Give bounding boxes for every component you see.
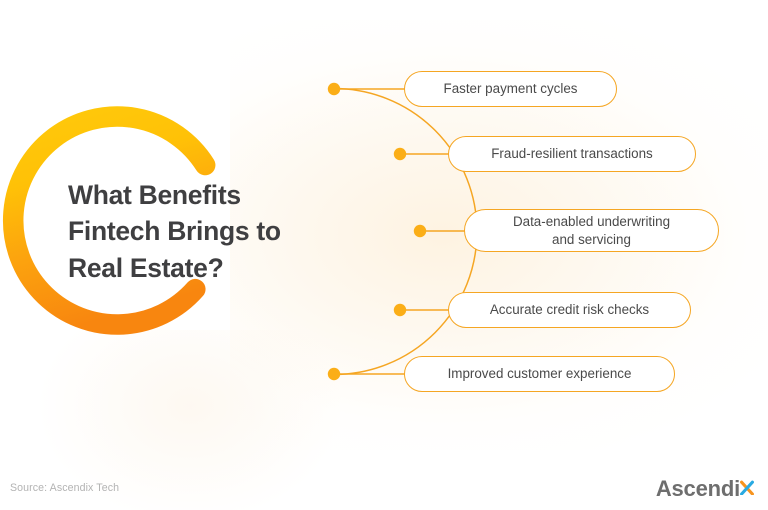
logo-x-icon — [740, 474, 754, 496]
benefit-pill-data-enabled-underwriting[interactable]: Data-enabled underwriting and servicing — [464, 209, 719, 252]
node-dot-3 — [394, 304, 406, 316]
connector-lines — [334, 89, 466, 374]
benefit-pill-faster-payment-cycles[interactable]: Faster payment cycles — [404, 71, 617, 107]
infographic-canvas: What Benefits Fintech Brings to Real Est… — [0, 0, 768, 510]
ascendix-logo: Ascendi — [656, 474, 754, 502]
page-title: What Benefits Fintech Brings to Real Est… — [68, 177, 353, 286]
benefit-pill-fraud-resilient-transactions[interactable]: Fraud-resilient transactions — [448, 136, 696, 172]
node-dot-0 — [328, 83, 340, 95]
benefit-pill-accurate-credit-risk-checks[interactable]: Accurate credit risk checks — [448, 292, 691, 328]
node-dot-2 — [414, 225, 426, 237]
benefit-pill-improved-customer-experience[interactable]: Improved customer experience — [404, 356, 675, 392]
logo-wordmark: Ascendi — [656, 476, 740, 502]
source-caption: Source: Ascendix Tech — [10, 482, 119, 494]
node-dot-1 — [394, 148, 406, 160]
node-dot-4 — [328, 368, 340, 380]
